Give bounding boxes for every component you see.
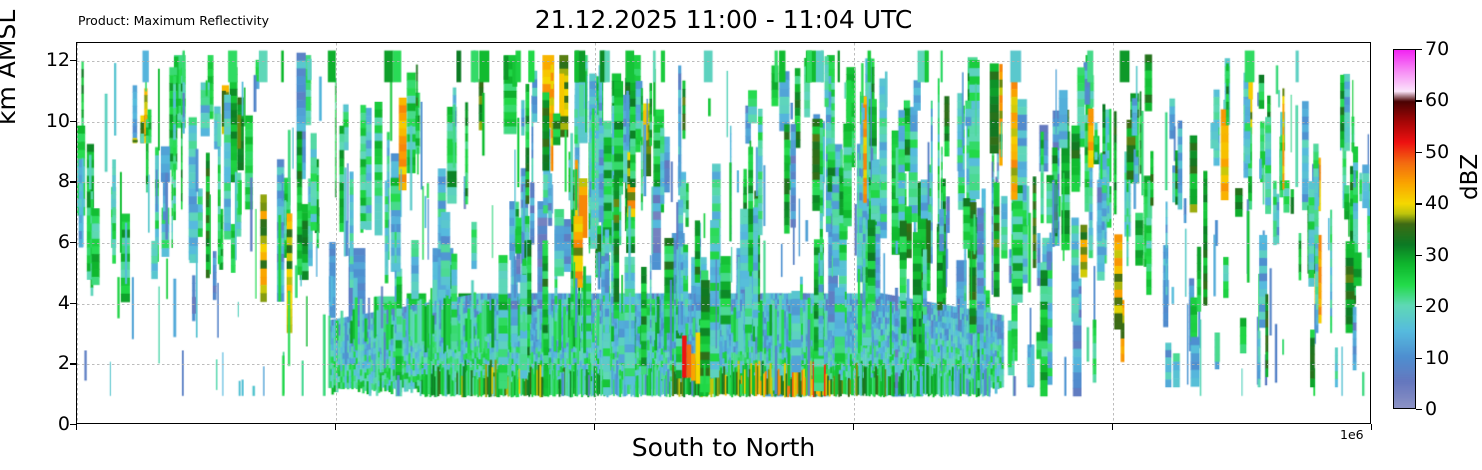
colorbar-tick-mark: [1416, 306, 1422, 307]
colorbar-tick-mark: [1416, 409, 1422, 410]
y-tick-label: 2: [58, 354, 70, 373]
x-axis-exponent: 1e6: [1340, 427, 1364, 442]
colorbar-tick-label: 40: [1425, 194, 1449, 213]
colorbar-tick-mark: [1416, 203, 1422, 204]
colorbar-tick-label: 30: [1425, 246, 1449, 265]
colorbar-tick-label: 0: [1425, 400, 1437, 419]
reflectivity-heatmap: [77, 43, 1370, 423]
colorbar-tick-mark: [1416, 100, 1422, 101]
y-tick-label: 12: [46, 51, 70, 70]
page-title: 21.12.2025 11:00 - 11:04 UTC: [76, 5, 1371, 35]
x-axis-label: South to North: [76, 433, 1371, 463]
x-tick-mark: [853, 424, 854, 430]
colorbar-tick-label: 10: [1425, 349, 1449, 368]
y-axis-label: km AMSL: [0, 10, 19, 125]
x-tick-mark: [1371, 424, 1372, 430]
colorbar-gradient: [1394, 50, 1415, 408]
y-tick-label: 8: [58, 172, 70, 191]
x-tick-mark: [594, 424, 595, 430]
y-tick-label: 6: [58, 233, 70, 252]
colorbar-label: dBZ: [1459, 154, 1482, 200]
y-tick-label: 4: [58, 294, 70, 313]
plot-area: [76, 42, 1371, 424]
y-tick-label: 0: [58, 415, 70, 434]
colorbar-tick-label: 70: [1425, 40, 1449, 59]
colorbar-tick-mark: [1416, 152, 1422, 153]
colorbar-tick-label: 60: [1425, 91, 1449, 110]
x-tick-mark: [76, 424, 77, 430]
x-tick-mark: [1112, 424, 1113, 430]
colorbar-tick-mark: [1416, 49, 1422, 50]
colorbar-tick-label: 50: [1425, 143, 1449, 162]
y-tick-label: 10: [46, 112, 70, 131]
x-tick-mark: [335, 424, 336, 430]
radar-cross-section-figure: Product: Maximum Reflectivity 21.12.2025…: [0, 0, 1482, 470]
colorbar-tick-mark: [1416, 255, 1422, 256]
colorbar: [1393, 49, 1416, 409]
colorbar-tick-mark: [1416, 358, 1422, 359]
colorbar-tick-label: 20: [1425, 297, 1449, 316]
